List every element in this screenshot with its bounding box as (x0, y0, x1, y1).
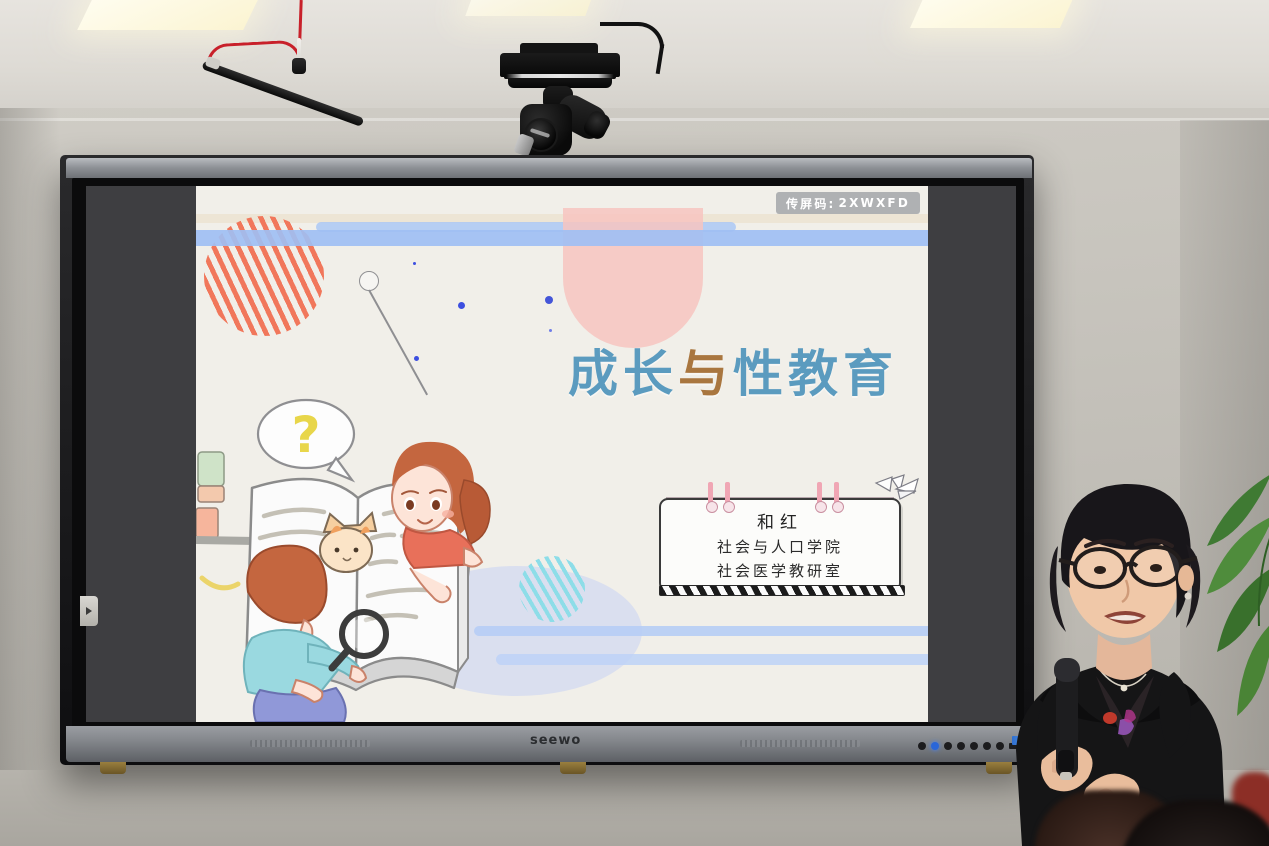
microphone-joint (292, 58, 306, 74)
presenter (1000, 420, 1262, 846)
slide-title-accent: 与 (678, 345, 733, 403)
wall-corner-left (0, 108, 60, 846)
presenter-division: 社会医学教研室 (659, 560, 901, 581)
pink-semicircle-decoration (563, 208, 703, 348)
paper-clip-pin (817, 482, 822, 508)
wall-seam (0, 118, 1269, 121)
dot-decoration (545, 296, 553, 304)
display-stand-foot (560, 762, 586, 774)
slide-title-part2: 性教育 (733, 345, 898, 403)
balloon-icon (359, 271, 379, 291)
dot-decoration (414, 356, 419, 361)
svg-text:?: ? (291, 406, 320, 464)
cast-code-badge: 传屏码: 2XWXFD (776, 192, 920, 214)
paper-clip-pin (725, 482, 730, 508)
display-stand-foot (100, 762, 126, 774)
presentation-slide[interactable]: ? (196, 186, 928, 722)
presenter-department: 社会与人口学院 (659, 536, 901, 557)
presenter-name: 和红 (659, 508, 901, 533)
paper-clip-pin (834, 482, 839, 508)
play-triangle-icon (85, 606, 93, 616)
power-button[interactable] (931, 742, 939, 750)
dot-decoration (413, 262, 416, 265)
cyan-striped-circle-decoration (519, 556, 585, 622)
display-top-bezel (66, 158, 1032, 178)
origami-crane-icon (874, 471, 924, 507)
blue-line-decoration (474, 626, 928, 636)
balloon-string (368, 290, 427, 396)
bezel-button[interactable] (957, 742, 965, 750)
display-screen[interactable]: ? (86, 186, 1016, 722)
ceiling-light (465, 0, 594, 16)
bezel-button[interactable] (970, 742, 978, 750)
paper-clip-pin (708, 482, 713, 508)
slide-title: 成长与性教育 (568, 334, 908, 406)
cast-code-label: 传屏码: (786, 195, 836, 212)
cast-code-value: 2XWXFD (839, 196, 910, 210)
seewo-sidebar-toggle[interactable] (80, 596, 98, 626)
bezel-button[interactable] (944, 742, 952, 750)
blue-line-decoration (496, 654, 928, 665)
info-card-striped-edge (659, 585, 905, 596)
lecture-room-photo: ? (0, 0, 1269, 846)
children-reading-illustration: ? (196, 382, 496, 722)
blue-brush-band-decoration (196, 230, 928, 246)
speaker-vent (250, 740, 370, 747)
dot-decoration (549, 329, 552, 332)
seewo-brand-logo: seewo (530, 733, 600, 749)
bezel-button[interactable] (983, 742, 991, 750)
bezel-button[interactable] (918, 742, 926, 750)
dot-decoration (458, 302, 465, 309)
slide-title-part1: 成长 (568, 345, 678, 403)
ceiling-light (77, 0, 261, 30)
speaker-vent (740, 740, 860, 747)
ceiling-light (910, 0, 1076, 28)
